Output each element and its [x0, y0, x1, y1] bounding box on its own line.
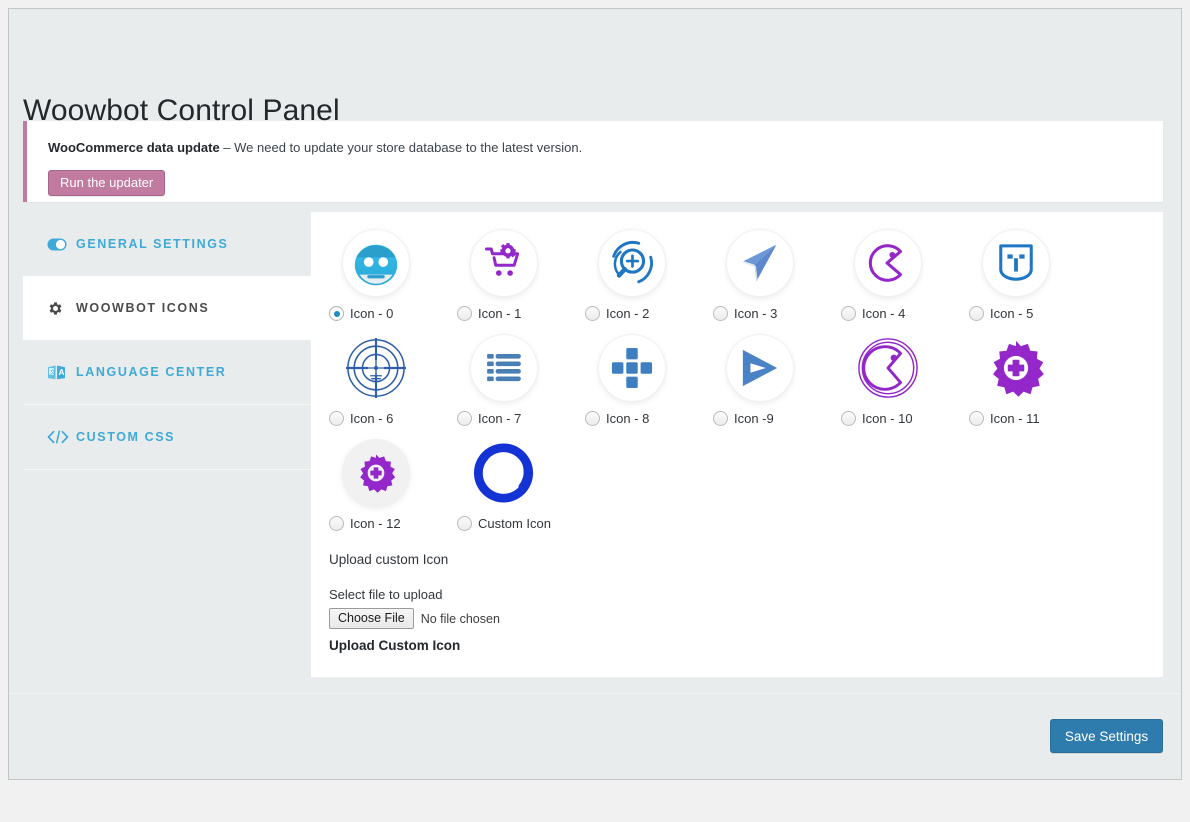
- icon-radio-6[interactable]: [329, 411, 344, 426]
- icon-option-0[interactable]: Icon - 0: [329, 230, 457, 321]
- icon-label: Icon - 7: [478, 411, 521, 426]
- icon-option-10[interactable]: Icon - 10: [841, 335, 969, 426]
- upload-section: Upload custom Icon Select file to upload…: [329, 552, 1029, 655]
- icon-grid: Icon - 0: [329, 230, 1141, 545]
- play-triangle-icon[interactable]: [727, 335, 793, 401]
- toggle-switch-icon: [47, 234, 69, 254]
- sidebar-item-label: General Settings: [76, 237, 228, 251]
- icon-option-row[interactable]: Icon - 12: [329, 516, 457, 531]
- icon-label: Icon - 1: [478, 306, 521, 321]
- icon-option-row[interactable]: Icon - 10: [841, 411, 969, 426]
- icon-label: Icon - 6: [350, 411, 393, 426]
- translate-icon: 文 A: [47, 362, 69, 382]
- icon-radio-8[interactable]: [585, 411, 600, 426]
- sidebar-item-woowbot-icons[interactable]: Woowbot Icons: [23, 276, 311, 340]
- icon-label: Icon - 12: [350, 516, 401, 531]
- icon-label: Icon - 4: [862, 306, 905, 321]
- upload-section-title: Upload custom Icon: [329, 552, 1029, 567]
- svg-text:文: 文: [50, 367, 56, 375]
- robot-face-icon[interactable]: [343, 230, 409, 296]
- icon-radio-5[interactable]: [969, 306, 984, 321]
- file-chosen-status: No file chosen: [421, 612, 500, 626]
- shopping-cart-gear-icon[interactable]: [471, 230, 537, 296]
- icon-label: Icon -9: [734, 411, 774, 426]
- icon-option-row[interactable]: Icon - 8: [585, 411, 713, 426]
- icon-radio-11[interactable]: [969, 411, 984, 426]
- sidebar-filler: [23, 470, 311, 680]
- icon-option-1[interactable]: Icon - 1: [457, 230, 585, 321]
- paper-plane-icon[interactable]: [727, 230, 793, 296]
- sidebar-item-custom-css[interactable]: Custom CSS: [23, 405, 311, 469]
- icon-option-custom[interactable]: Custom Icon: [457, 440, 585, 531]
- icon-label: Icon - 0: [350, 306, 393, 321]
- blue-ring-icon[interactable]: [471, 440, 537, 506]
- icon-radio-3[interactable]: [713, 306, 728, 321]
- icon-option-row[interactable]: Icon - 5: [969, 306, 1097, 321]
- icon-label: Icon - 2: [606, 306, 649, 321]
- icon-option-8[interactable]: Icon - 8: [585, 335, 713, 426]
- icon-option-6[interactable]: Icon - 6: [329, 335, 457, 426]
- icon-option-9[interactable]: Icon -9: [713, 335, 841, 426]
- icon-radio-1[interactable]: [457, 306, 472, 321]
- icon-option-row[interactable]: Icon - 4: [841, 306, 969, 321]
- crosshair-target-icon[interactable]: [343, 335, 409, 401]
- icon-label: Icon - 5: [990, 306, 1033, 321]
- upload-custom-icon-button[interactable]: Upload Custom Icon: [329, 638, 460, 653]
- icon-radio-7[interactable]: [457, 411, 472, 426]
- notice-message-strong: WooCommerce data update: [48, 140, 220, 155]
- sidebar-item-label: Custom CSS: [76, 430, 175, 444]
- icon-option-row[interactable]: Icon - 1: [457, 306, 585, 321]
- icon-radio-custom[interactable]: [457, 516, 472, 531]
- icon-radio-12[interactable]: [329, 516, 344, 531]
- icon-option-7[interactable]: Icon - 7: [457, 335, 585, 426]
- icon-option-5[interactable]: Icon - 5: [969, 230, 1097, 321]
- icon-option-row[interactable]: Icon -9: [713, 411, 841, 426]
- code-brackets-icon: [47, 427, 69, 447]
- icon-option-4[interactable]: Icon - 4: [841, 230, 969, 321]
- plus-blocks-icon[interactable]: [599, 335, 665, 401]
- icon-option-row[interactable]: Icon - 3: [713, 306, 841, 321]
- admin-page: Woowbot Control Panel WooCommerce data u…: [8, 8, 1182, 780]
- choose-file-button[interactable]: Choose File: [329, 608, 414, 629]
- magnifier-plus-orbit-icon[interactable]: [599, 230, 665, 296]
- icon-option-row[interactable]: Icon - 6: [329, 411, 457, 426]
- icon-grid-row: Icon - 0: [329, 230, 1141, 335]
- icon-option-11[interactable]: Icon - 11: [969, 335, 1097, 426]
- settings-sidebar: General Settings Woowbot Icons 文 A Lan: [23, 212, 311, 680]
- gear-icon: [47, 298, 69, 318]
- icon-label: Icon - 11: [990, 411, 1040, 426]
- sidebar-item-label: Woowbot Icons: [76, 301, 209, 315]
- sidebar-item-general-settings[interactable]: General Settings: [23, 212, 311, 276]
- icon-label: Icon - 8: [606, 411, 649, 426]
- icon-option-12[interactable]: Icon - 12: [329, 440, 457, 531]
- file-input-row[interactable]: Choose File No file chosen: [329, 608, 1029, 629]
- svg-text:A: A: [59, 367, 65, 376]
- list-lines-icon[interactable]: [471, 335, 537, 401]
- gear-plus-badge-icon[interactable]: [343, 440, 409, 506]
- icon-option-row[interactable]: Icon - 11: [969, 411, 1097, 426]
- pacman-ring-icon[interactable]: [855, 335, 921, 401]
- icon-radio-2[interactable]: [585, 306, 600, 321]
- icon-grid-row: Icon - 12: [329, 440, 1141, 545]
- icon-option-2[interactable]: Icon - 2: [585, 230, 713, 321]
- icon-option-row[interactable]: Icon - 2: [585, 306, 713, 321]
- robot-head-outline-icon[interactable]: [983, 230, 1049, 296]
- footer-divider: [9, 693, 1181, 694]
- icon-label: Icon - 10: [862, 411, 913, 426]
- notice-message-rest: – We need to update your store database …: [220, 140, 583, 155]
- icon-radio-0[interactable]: [329, 306, 344, 321]
- woowbot-icons-panel: Icon - 0: [311, 212, 1163, 677]
- icon-radio-10[interactable]: [841, 411, 856, 426]
- run-the-updater-button[interactable]: Run the updater: [48, 170, 165, 196]
- notice-message: WooCommerce data update – We need to upd…: [48, 140, 582, 155]
- icon-radio-9[interactable]: [713, 411, 728, 426]
- icon-grid-row: Icon - 6: [329, 335, 1141, 440]
- pacman-chat-icon[interactable]: [855, 230, 921, 296]
- gear-plus-icon[interactable]: [983, 335, 1049, 401]
- sidebar-item-label: Language Center: [76, 365, 226, 379]
- icon-option-row[interactable]: Custom Icon: [457, 516, 585, 531]
- woocommerce-update-notice: WooCommerce data update – We need to upd…: [23, 121, 1163, 202]
- icon-option-row[interactable]: Icon - 7: [457, 411, 585, 426]
- select-file-label: Select file to upload: [329, 587, 1029, 602]
- icon-option-row[interactable]: Icon - 0: [329, 306, 457, 321]
- sidebar-item-language-center[interactable]: 文 A Language Center: [23, 340, 311, 404]
- save-settings-button[interactable]: Save Settings: [1050, 719, 1163, 753]
- icon-option-3[interactable]: Icon - 3: [713, 230, 841, 321]
- icon-label: Custom Icon: [478, 516, 551, 531]
- icon-radio-4[interactable]: [841, 306, 856, 321]
- icon-label: Icon - 3: [734, 306, 777, 321]
